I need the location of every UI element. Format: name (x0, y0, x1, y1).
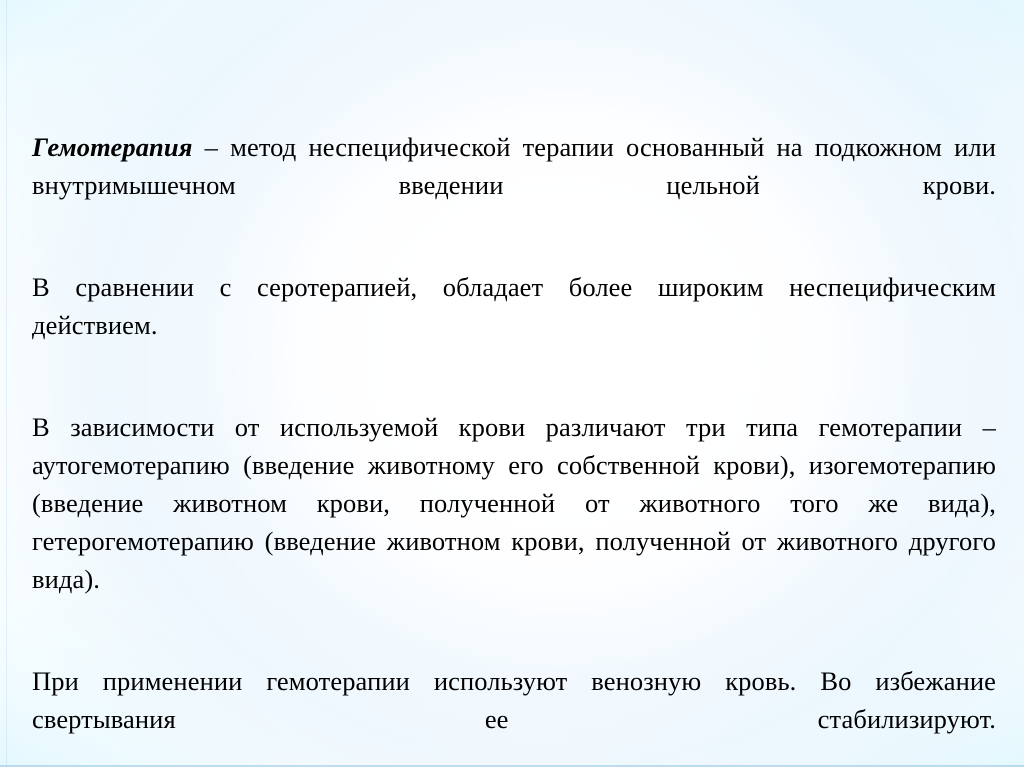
slide-text-body: Гемотерапия – метод неспецифической тера… (32, 128, 996, 767)
paragraph-types: В зависимости от используемой крови разл… (32, 408, 996, 636)
slide-left-seam (6, 0, 7, 767)
paragraph-comparison: В сравнении с серотерапией, обладает бол… (32, 268, 996, 382)
term-gemoterapiya: Гемотерапия (32, 132, 192, 162)
paragraph-definition: Гемотерапия – метод неспецифической тера… (32, 128, 996, 242)
slide: Гемотерапия – метод неспецифической тера… (0, 0, 1024, 767)
paragraph-application: При применении гемотерапии используют ве… (32, 662, 996, 767)
